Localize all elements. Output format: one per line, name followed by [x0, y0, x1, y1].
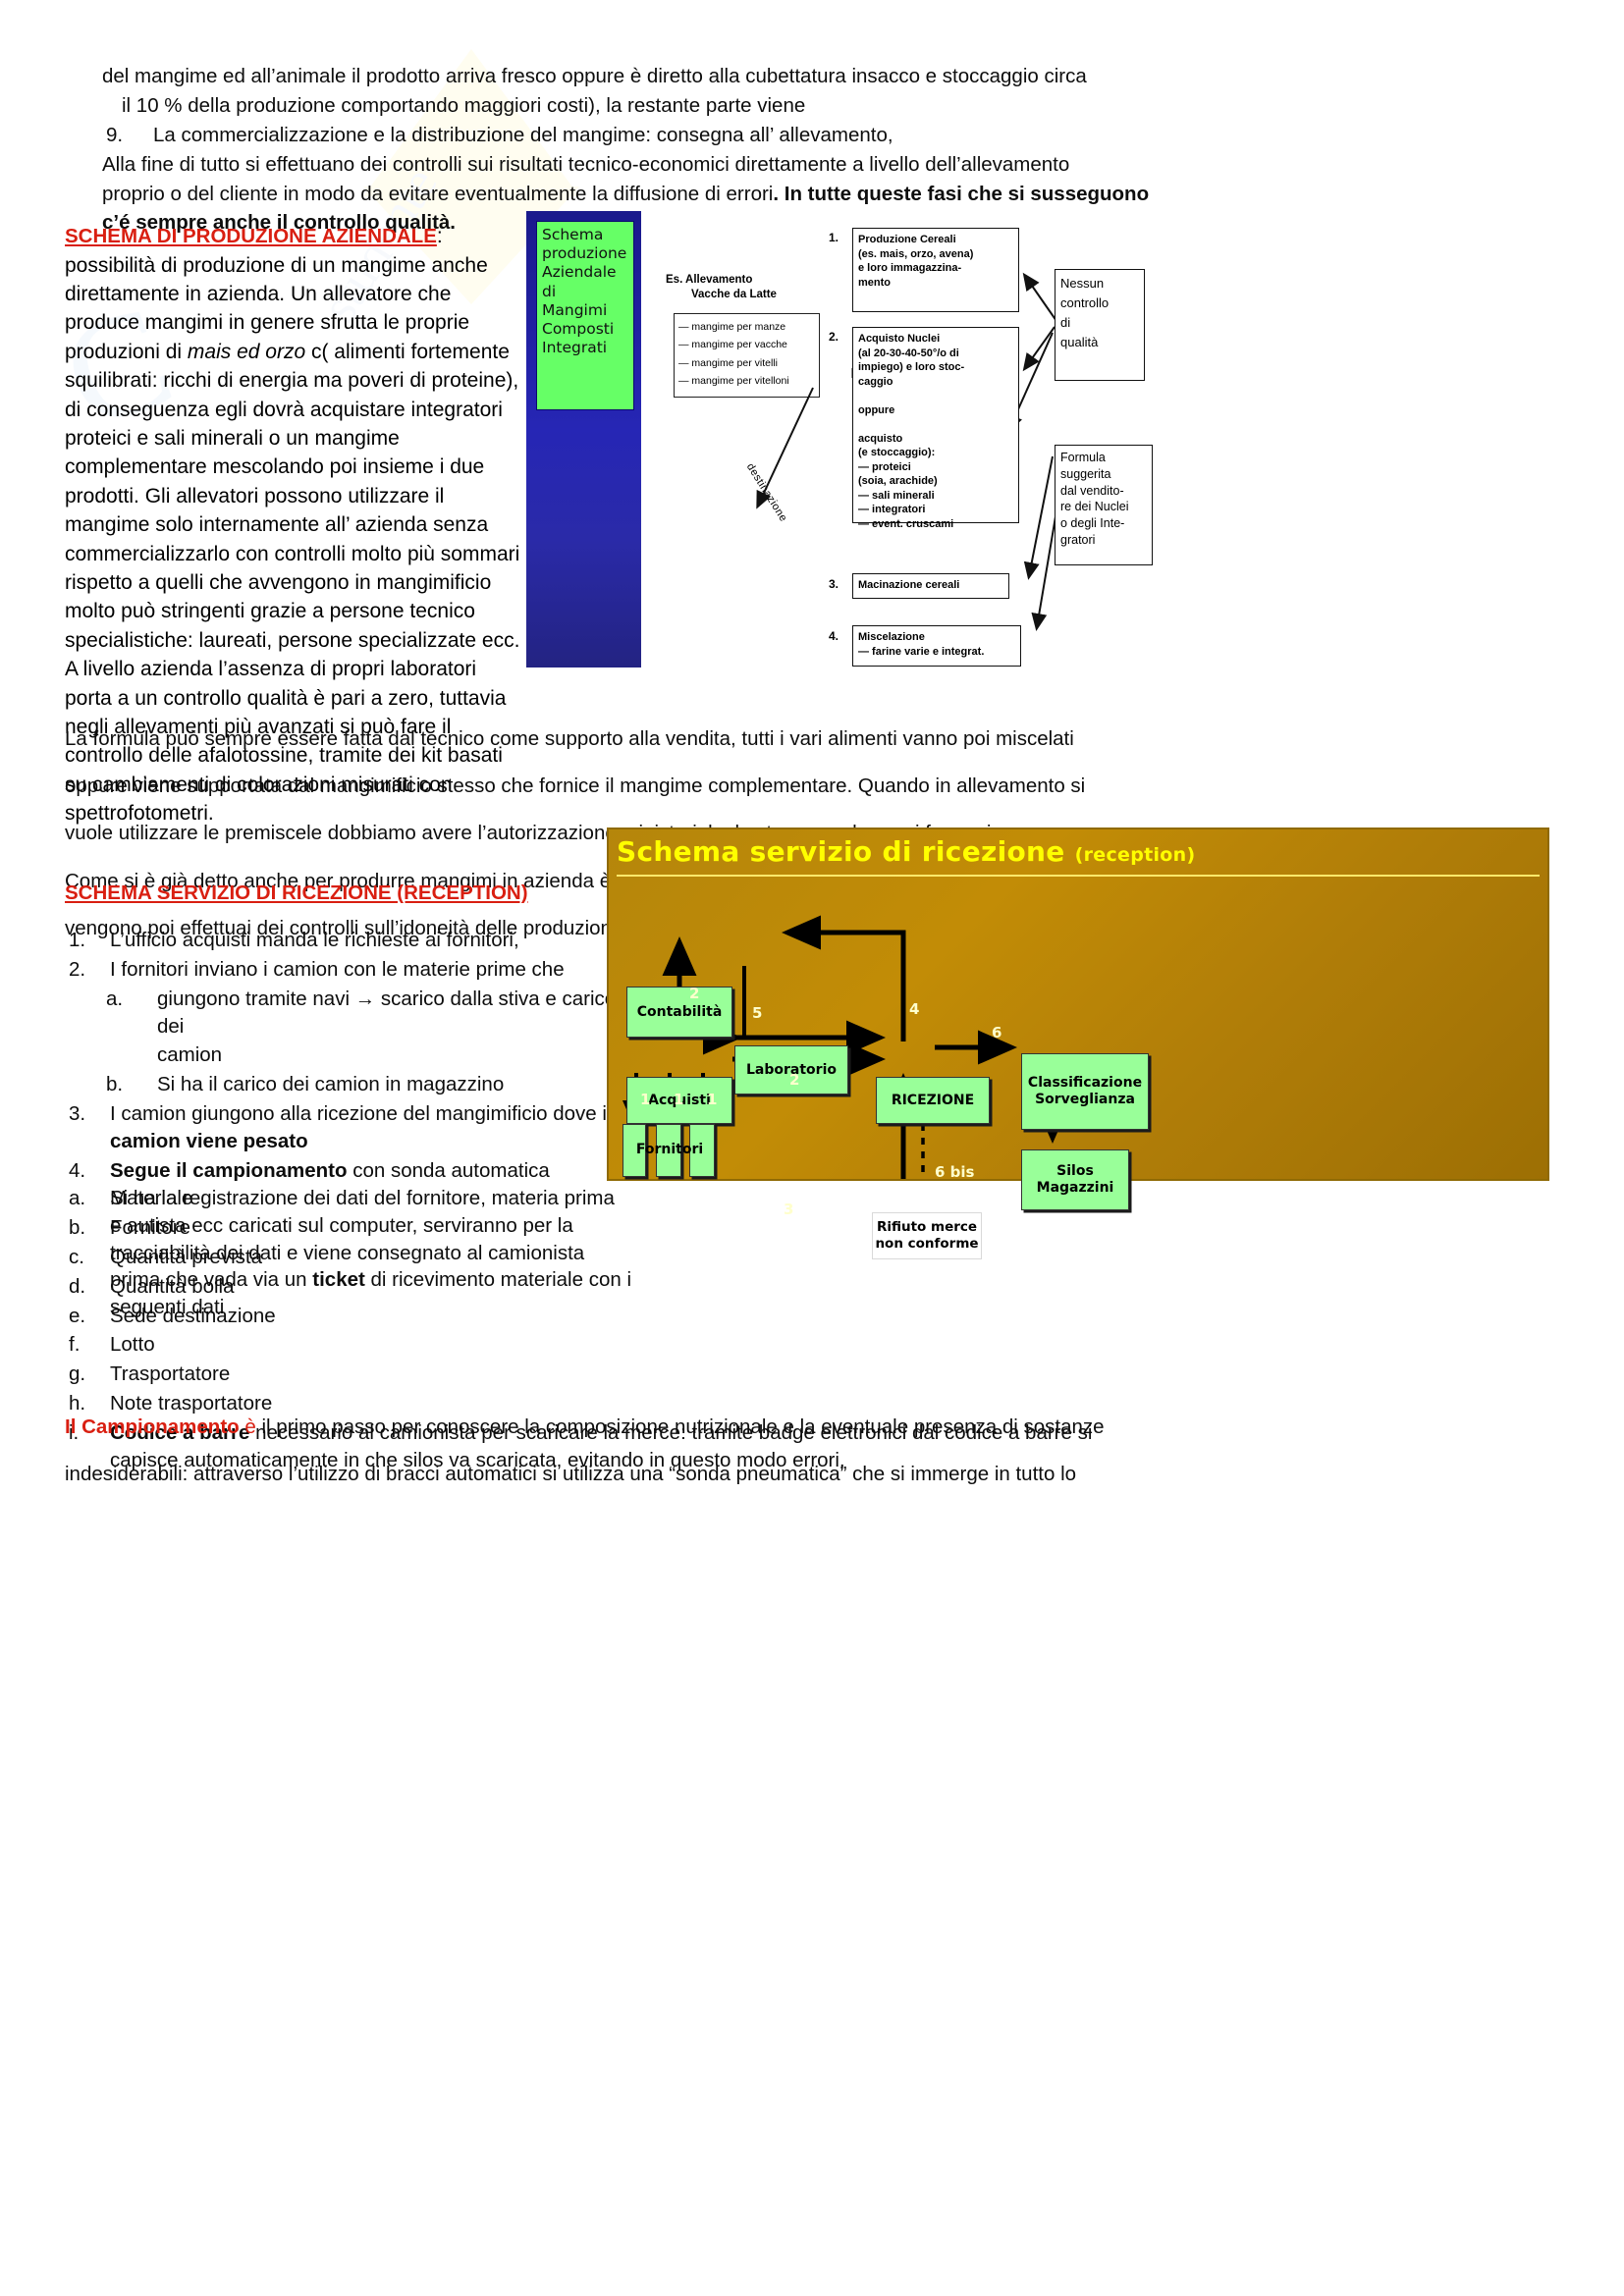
diagram2-title-sub: (reception)	[1075, 844, 1196, 866]
section1-heading: SCHEMA DI PRODUZIONE AZIENDALE	[65, 225, 437, 247]
diagram1-step-1-number: 1.	[829, 231, 839, 244]
diagram2-label-lab-ricezione: 4	[909, 1000, 919, 1018]
alpha-item-e-text: Sede destinazione	[110, 1303, 1533, 1330]
tail-paragraph: Il Campionamento è il primo passo per co…	[65, 1393, 1533, 1508]
section2-item-3-line-b: camion viene pesato	[110, 1130, 308, 1152]
diagram1-step-2-number: 2.	[829, 330, 839, 344]
diagram1-step-4-number: 4.	[829, 629, 839, 643]
diagram1-example-line-2: Vacche da Latte	[666, 288, 777, 302]
section2-item-2-number: 2.	[65, 956, 110, 984]
diagram1-title-line-4: Mangimi	[542, 301, 628, 320]
diagram1-title-line-5: Composti	[542, 320, 628, 339]
diagram2-title-main: Schema servizio di ricezione	[617, 835, 1065, 868]
section2-sub-a-cont: camion	[65, 1041, 634, 1069]
diagram2-box-ricezione: RICEZIONE	[876, 1077, 990, 1124]
section2-item-1-number: 1.	[65, 927, 110, 954]
section2-item-3-line-a: I camion giungono alla ricezione del man…	[110, 1102, 612, 1125]
section1-italic: mais ed orzo	[188, 341, 305, 363]
lead-line-3: Alla fine di tutto si effettuano dei con…	[102, 151, 1531, 179]
diagram1-nessun-controllo-box: Nessun controllo di qualità	[1055, 269, 1145, 381]
diagram1-destinazione-label: destinazione	[744, 461, 789, 524]
diagram1-title-card: Schema produzione Aziendale di Mangimi C…	[536, 221, 634, 410]
alpha-item-f-text: Lotto	[110, 1331, 1533, 1359]
diagram2-box-rifiuto-merce: Rifiuto merce non conforme	[872, 1212, 982, 1259]
section2-sub-a-number: a.	[106, 986, 157, 1041]
diagram2-label-ric-class: 6	[992, 1024, 1001, 1041]
lead-line-4a: proprio o del cliente in modo da evitare…	[102, 183, 773, 205]
section2-item-2: 2. I fornitori inviano i camion con le m…	[65, 956, 634, 984]
diagram1-feed-list: — mangime per manze — mangime per vacche…	[674, 313, 820, 398]
diagram1-title-line-0: Schema	[542, 226, 628, 244]
tail-line-2: indesiderabili: attraverso l’utilizzo di…	[65, 1461, 1533, 1488]
diagram2-box-silos: Silos Magazzini	[1021, 1149, 1129, 1210]
alpha-item-d-number: d.	[65, 1273, 110, 1301]
alpha-item-f: f. Lotto	[65, 1331, 1533, 1359]
tail-rest-b: il primo passo per conoscere la composiz…	[256, 1415, 1105, 1438]
diagram1-feed-item-1: — mangime per vacche	[678, 336, 815, 353]
section2-sub-b-number: b.	[106, 1071, 157, 1098]
diagram2-label-acq-ricezione: 2	[789, 1071, 799, 1089]
lead-line-4b: . In tutte queste fasi che si susseguono	[773, 183, 1149, 205]
alpha-item-d-text: Quantità bolla	[110, 1273, 1533, 1301]
lead-item-9: 9. La commercializzazione e la distribuz…	[102, 122, 1531, 149]
section2-sub-a-text: giungono tramite navi → scarico dalla st…	[157, 986, 634, 1041]
diagram1-feed-item-2: — mangime per vitelli	[678, 354, 815, 372]
diagram-schema-produzione-aziendale: Schema produzione Aziendale di Mangimi C…	[526, 211, 1530, 667]
diagram2-title: Schema servizio di ricezione (reception)	[617, 835, 1540, 877]
document-page: C studente del mangime ed all’animale il…	[0, 0, 1624, 2296]
section2-item-1: 1. L’ufficio acquisti manda le richieste…	[65, 927, 634, 954]
section2-sub-a-cont-text: camion	[157, 1041, 634, 1069]
diagram2-label-fornitori-3: 1	[707, 1091, 717, 1108]
diagram1-feed-item-3: — mangime per vitelloni	[678, 372, 815, 390]
alpha-item-g-text: Trasportatore	[110, 1361, 1533, 1388]
alpha-item-c-number: c.	[65, 1244, 110, 1271]
diagram1-step-3-box: Macinazione cereali	[852, 573, 1009, 599]
diagram1-example-label: Es. Allevamento Vacche da Latte	[666, 273, 777, 302]
tail-line-1: Il Campionamento è il primo passo per co…	[65, 1414, 1533, 1441]
diagram1-step-2-box: Acquisto Nuclei (al 20-30-40-50°/o di im…	[852, 327, 1019, 523]
lead-item-9-text: La commercializzazione e la distribuzion…	[153, 122, 1531, 149]
tail-rest-a: è	[240, 1415, 256, 1438]
alpha-item-g: g. Trasportatore	[65, 1361, 1533, 1388]
diagram1-step-4-box: Miscelazione — farine varie e integrat.	[852, 625, 1021, 667]
alpha-item-e-number: e.	[65, 1303, 110, 1330]
diagram2-label-sei-bis: 6 bis	[935, 1163, 974, 1181]
mid-line-2: oppure viene supportata dal mangimificio…	[65, 773, 1533, 800]
diagram2-label-to-contabilita: 2	[689, 985, 699, 1002]
diagram1-feed-item-0: — mangime per manze	[678, 318, 815, 336]
alpha-item-c-text: Quantità prevista	[110, 1244, 1533, 1271]
diagram2-label-bottom: 3	[784, 1201, 793, 1218]
section2-item-2-text: I fornitori inviano i camion con le mate…	[110, 956, 634, 984]
diagram2-box-classificazione: Classificazione Sorveglianza	[1021, 1053, 1149, 1130]
section2-item-4-rest: con sonda automatica	[348, 1159, 550, 1182]
section2-item-3: 3. I camion giungono alla ricezione del …	[65, 1100, 634, 1155]
diagram1-step-3-number: 3.	[829, 577, 839, 591]
section2-sub-b-text: Si ha il carico dei camion in magazzino	[157, 1071, 634, 1098]
section2-sub-b: b. Si ha il carico dei camion in magazzi…	[65, 1071, 634, 1098]
diagram1-example-line-1: Es. Allevamento	[666, 273, 777, 288]
tail-bold-red: Il Campionamento	[65, 1415, 240, 1438]
diagram2-box-fornitori-label: Fornitori	[623, 1142, 717, 1157]
section2-item-3-text: I camion giungono alla ricezione del man…	[110, 1100, 634, 1155]
alpha-item-a-number: a.	[65, 1185, 110, 1212]
alpha-item-a: a. Materiale	[65, 1185, 1533, 1212]
section2-item-1-text: L’ufficio acquisti manda le richieste ai…	[110, 927, 634, 954]
lead-line-4: proprio o del cliente in modo da evitare…	[102, 181, 1531, 208]
section2-item-3-number: 3.	[65, 1100, 110, 1155]
diagram2-label-fornitori-2: 1	[674, 1091, 683, 1108]
alpha-item-b-text: Fornitore	[110, 1214, 1533, 1242]
section2-sub-a: a. giungono tramite navi → scarico dalla…	[65, 986, 634, 1041]
alpha-item-a-text: Materiale	[110, 1185, 1533, 1212]
diagram-schema-servizio-ricezione: Schema servizio di ricezione (reception)	[607, 828, 1549, 1181]
alpha-item-b: b. Fornitore	[65, 1214, 1533, 1242]
diagram1-title-line-3: di	[542, 283, 628, 301]
diagram1-title-line-6: Integrati	[542, 339, 628, 357]
alpha-item-d: d. Quantità bolla	[65, 1273, 1533, 1301]
section2-sub-a-cont-number	[106, 1041, 157, 1069]
alpha-item-e: e. Sede destinazione	[65, 1303, 1533, 1330]
section2-item-4-bold: Segue il campionamento	[110, 1159, 348, 1182]
alpha-item-c: c. Quantità prevista	[65, 1244, 1533, 1271]
diagram1-title-line-2: Aziendale	[542, 263, 628, 282]
alpha-item-b-number: b.	[65, 1214, 110, 1242]
mid-line-1: La formula può sempre essere fatta dal t…	[65, 725, 1533, 753]
lead-line-2: il 10 % della produzione comportando mag…	[102, 92, 1531, 120]
section2-heading: SCHEMA SERVIZIO DI RICEZIONE (RECEPTION)	[65, 880, 634, 907]
diagram2-label-lab-acquisti: 5	[752, 1004, 762, 1022]
lead-line-1: del mangime ed all’animale il prodotto a…	[102, 63, 1531, 90]
diagram2-label-fornitori-1: 1	[640, 1091, 650, 1108]
diagram2-box-contabilita: Contabilità	[626, 987, 732, 1038]
diagram1-step-1-box: Produzione Cereali (es. mais, orzo, aven…	[852, 228, 1019, 312]
diagram1-formula-box: Formula suggerita dal vendito- re dei Nu…	[1055, 445, 1153, 565]
alpha-item-g-number: g.	[65, 1361, 110, 1388]
diagram1-title-line-1: produzione	[542, 244, 628, 263]
alpha-item-f-number: f.	[65, 1331, 110, 1359]
lead-item-9-number: 9.	[102, 122, 153, 149]
